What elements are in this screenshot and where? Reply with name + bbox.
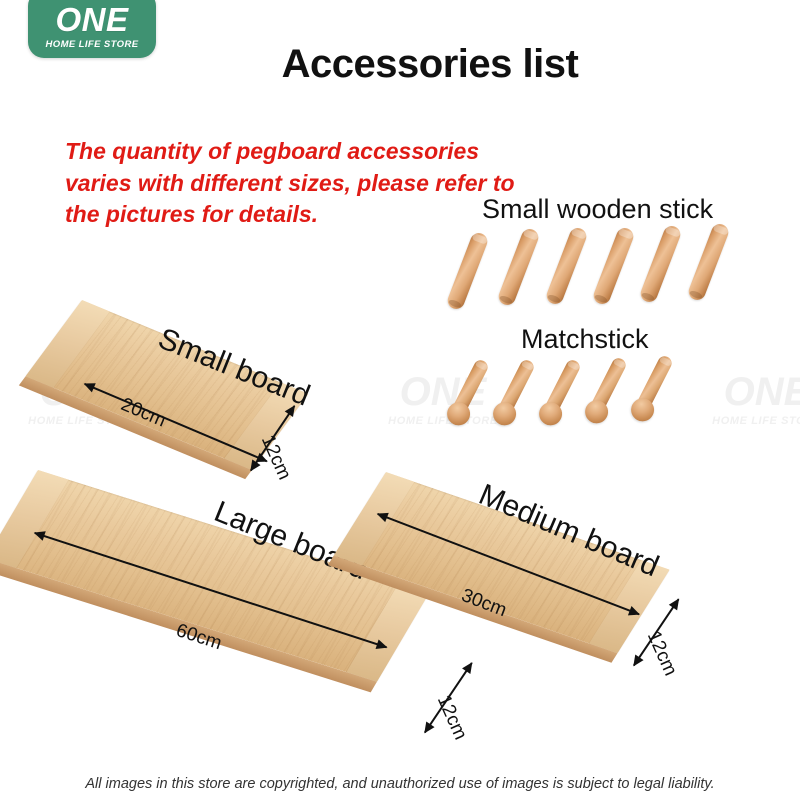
matchstick [627, 353, 675, 426]
watermark-sub: HOME LIFE STORE [672, 415, 800, 427]
small-board-rail-left [26, 300, 110, 388]
matchstick [489, 357, 537, 430]
product-infographic: ONE HOME LIFE STORE ONE HOME LIFE STORE … [0, 0, 800, 800]
wooden-stick [686, 222, 731, 303]
watermark-main: ONE [672, 372, 800, 412]
arrow-head [420, 721, 434, 736]
wooden-stick [544, 226, 589, 307]
wooden-stick [591, 226, 636, 307]
watermark: ONE HOME LIFE STORE [672, 372, 800, 427]
quantity-note: The quantity of pegboard accessories var… [65, 136, 535, 231]
matchstick [443, 357, 491, 430]
matchstick [581, 355, 629, 428]
wooden-stick [445, 231, 490, 312]
medium-board-width-value: 12cm [642, 628, 681, 679]
arrow-head [629, 654, 643, 669]
wooden-stick [496, 227, 541, 308]
matchstick [535, 357, 583, 430]
wooden-stick [638, 224, 683, 305]
logo-wordmark: ONE [55, 3, 128, 36]
copyright-notice: All images in this store are copyrighted… [0, 776, 800, 792]
large-board-width-value: 12cm [432, 692, 471, 743]
section-label-small-wooden-stick: Small wooden stick [482, 194, 713, 225]
large-board-rail-right [346, 584, 429, 682]
page-title: Accessories list [0, 42, 800, 87]
section-label-matchstick: Matchstick [521, 324, 649, 355]
large-board-rail-left [0, 470, 69, 568]
medium-board-rail-left [334, 472, 415, 565]
